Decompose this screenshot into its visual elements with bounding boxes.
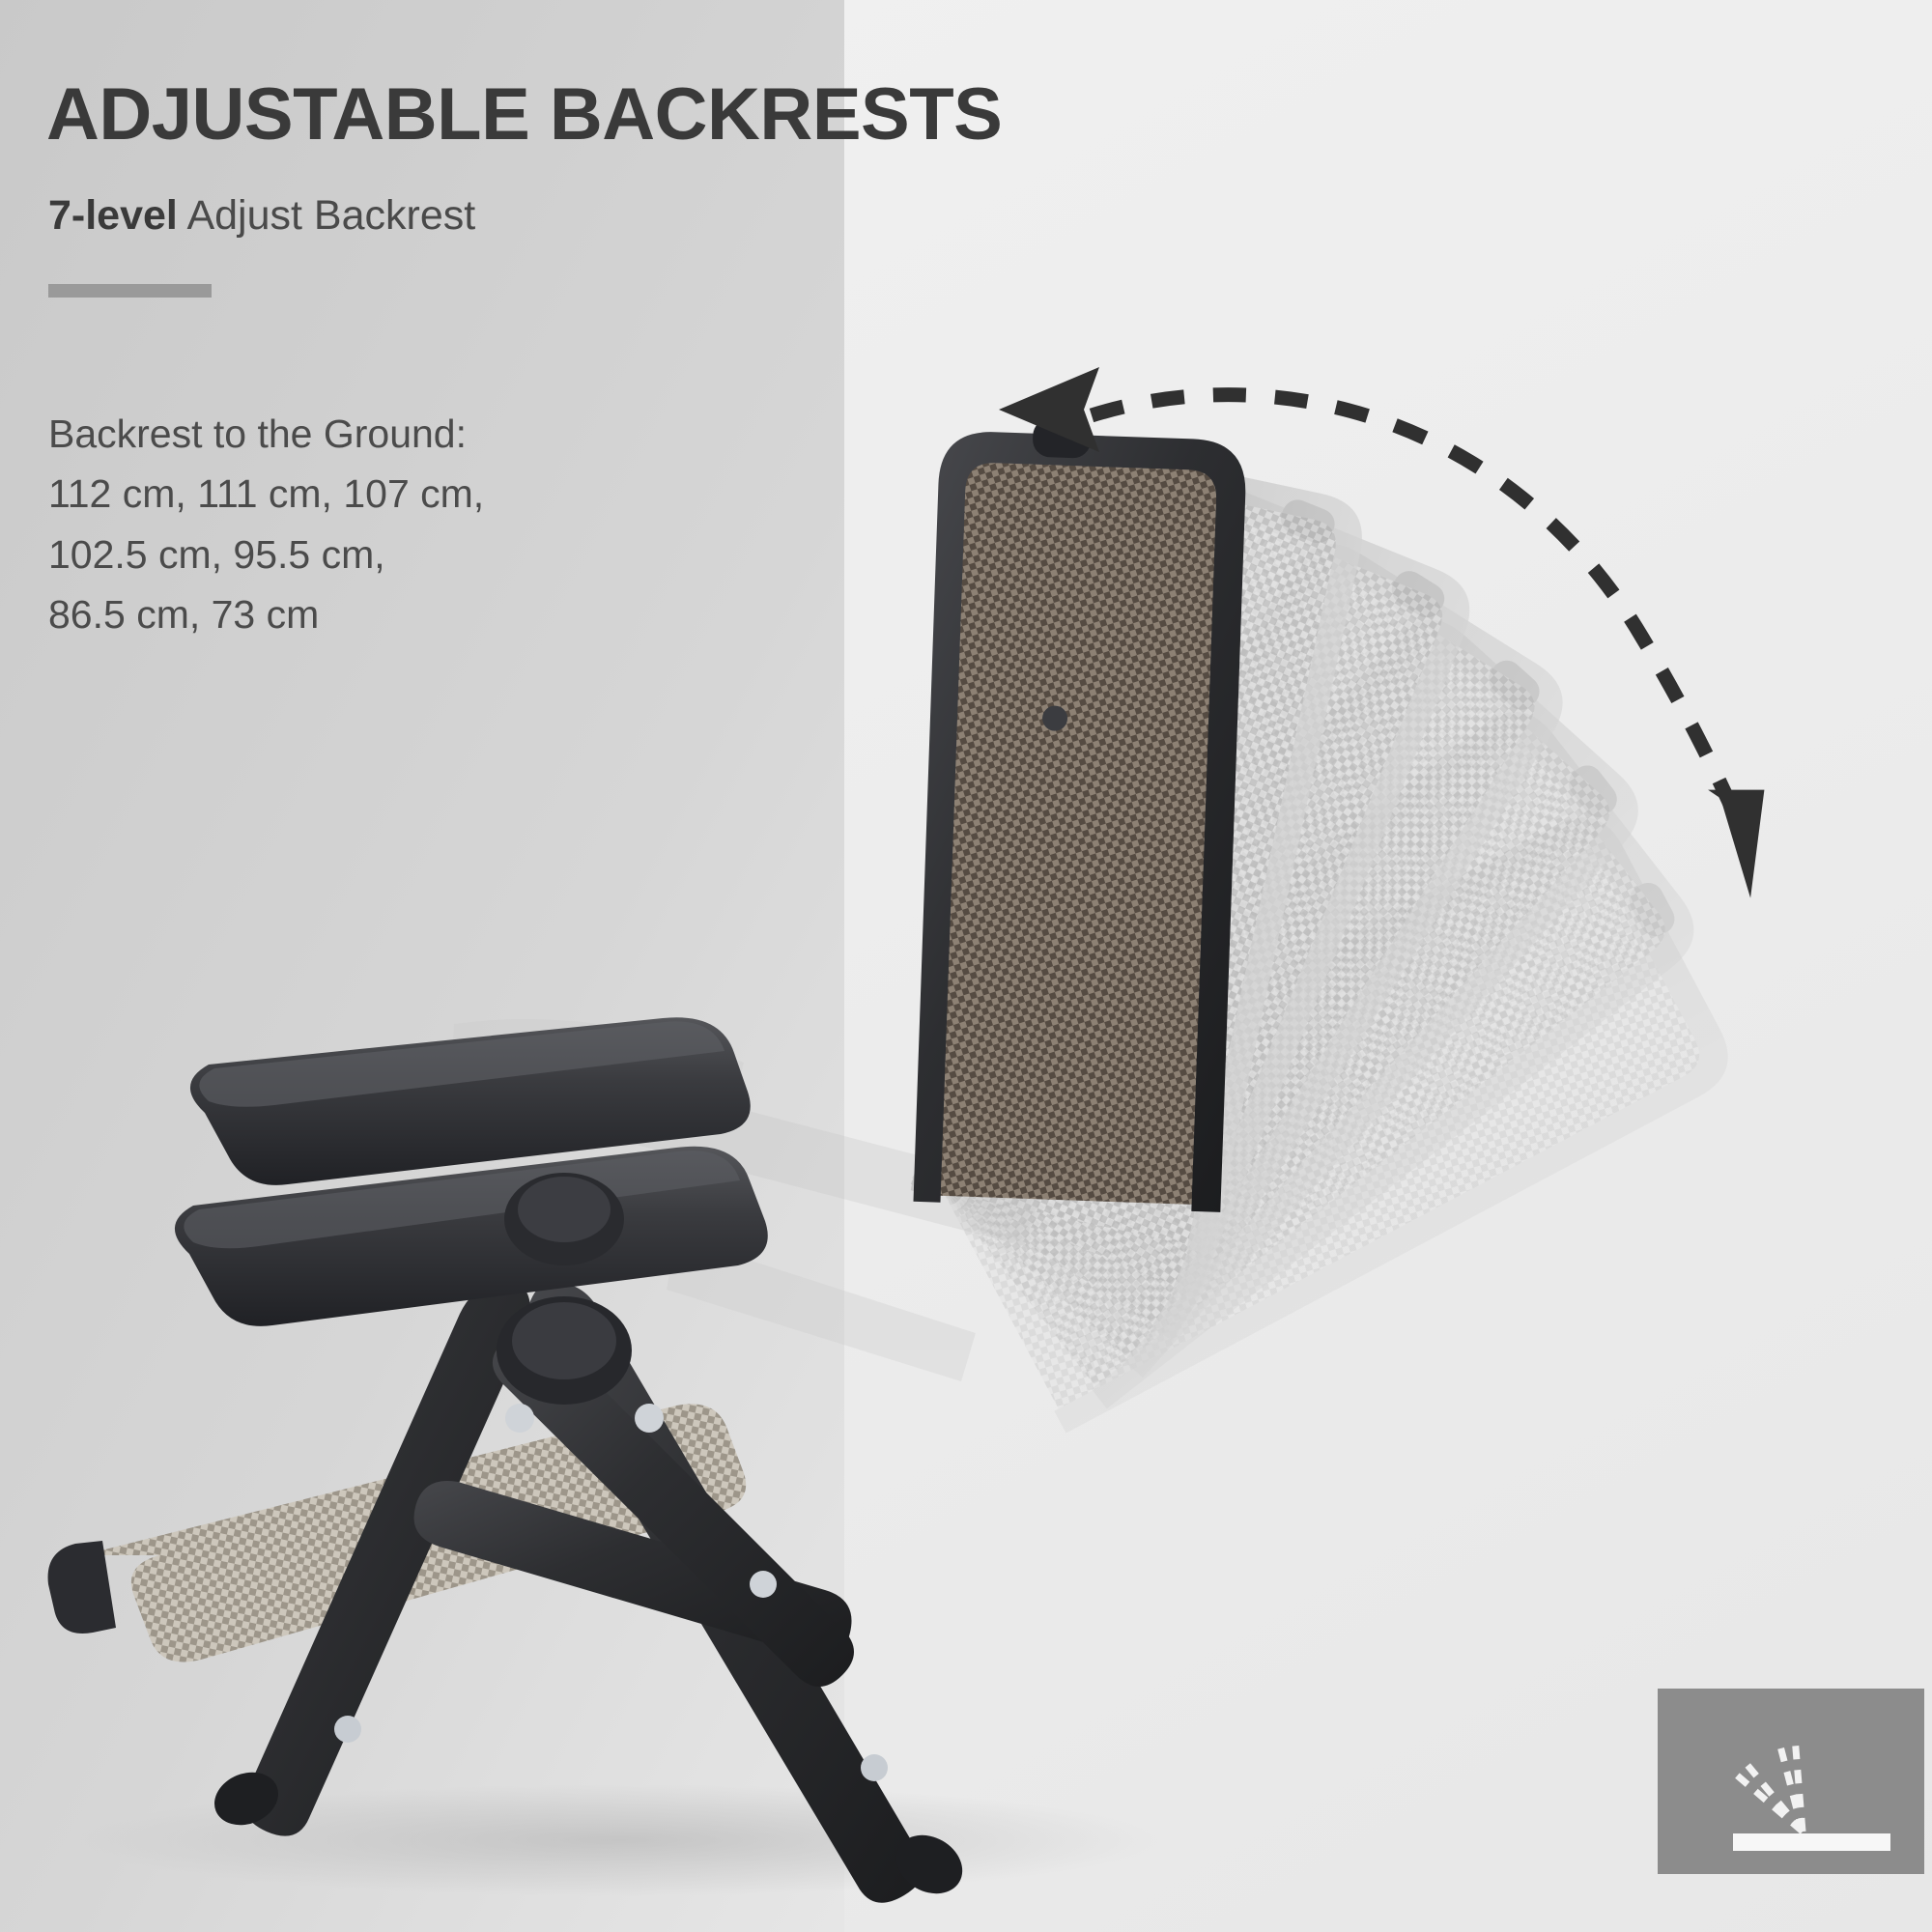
backrest-weave bbox=[925, 445, 1230, 1206]
page-title: ADJUSTABLE BACKRESTS bbox=[46, 75, 1002, 155]
rivet bbox=[750, 1571, 777, 1598]
hinge-lower-cap bbox=[512, 1302, 616, 1379]
accent-divider bbox=[48, 284, 212, 298]
spec-line-2: 102.5 cm, 95.5 cm, bbox=[48, 525, 667, 584]
subtitle: 7-level Adjust Backrest bbox=[48, 191, 475, 241]
badge-base-bar bbox=[1733, 1833, 1890, 1851]
reclining-backrest-diagram-icon bbox=[1658, 1689, 1924, 1874]
product-illustration bbox=[0, 0, 1932, 1932]
spec-list: Backrest to the Ground: 112 cm, 111 cm, … bbox=[48, 404, 667, 644]
spec-label: Backrest to the Ground: bbox=[48, 404, 667, 464]
rivet bbox=[861, 1754, 888, 1781]
spec-line-3: 86.5 cm, 73 cm bbox=[48, 584, 667, 644]
rivet bbox=[334, 1716, 361, 1743]
backrest-top-cap bbox=[1032, 418, 1091, 459]
subtitle-rest: Adjust Backrest bbox=[178, 192, 475, 239]
product-feature-graphic: ADJUSTABLE BACKRESTS 7-level Adjust Back… bbox=[0, 0, 1932, 1932]
rivet bbox=[505, 1404, 534, 1433]
hinge-upper-cap bbox=[518, 1177, 611, 1242]
rivet bbox=[635, 1404, 664, 1433]
badge-backrest-line-2 bbox=[1795, 1737, 1803, 1832]
spec-line-1: 112 cm, 111 cm, 107 cm, bbox=[48, 464, 667, 524]
recline-positions-badge bbox=[1658, 1689, 1924, 1874]
backrest bbox=[913, 414, 1247, 1212]
subtitle-strong: 7-level bbox=[48, 192, 178, 239]
